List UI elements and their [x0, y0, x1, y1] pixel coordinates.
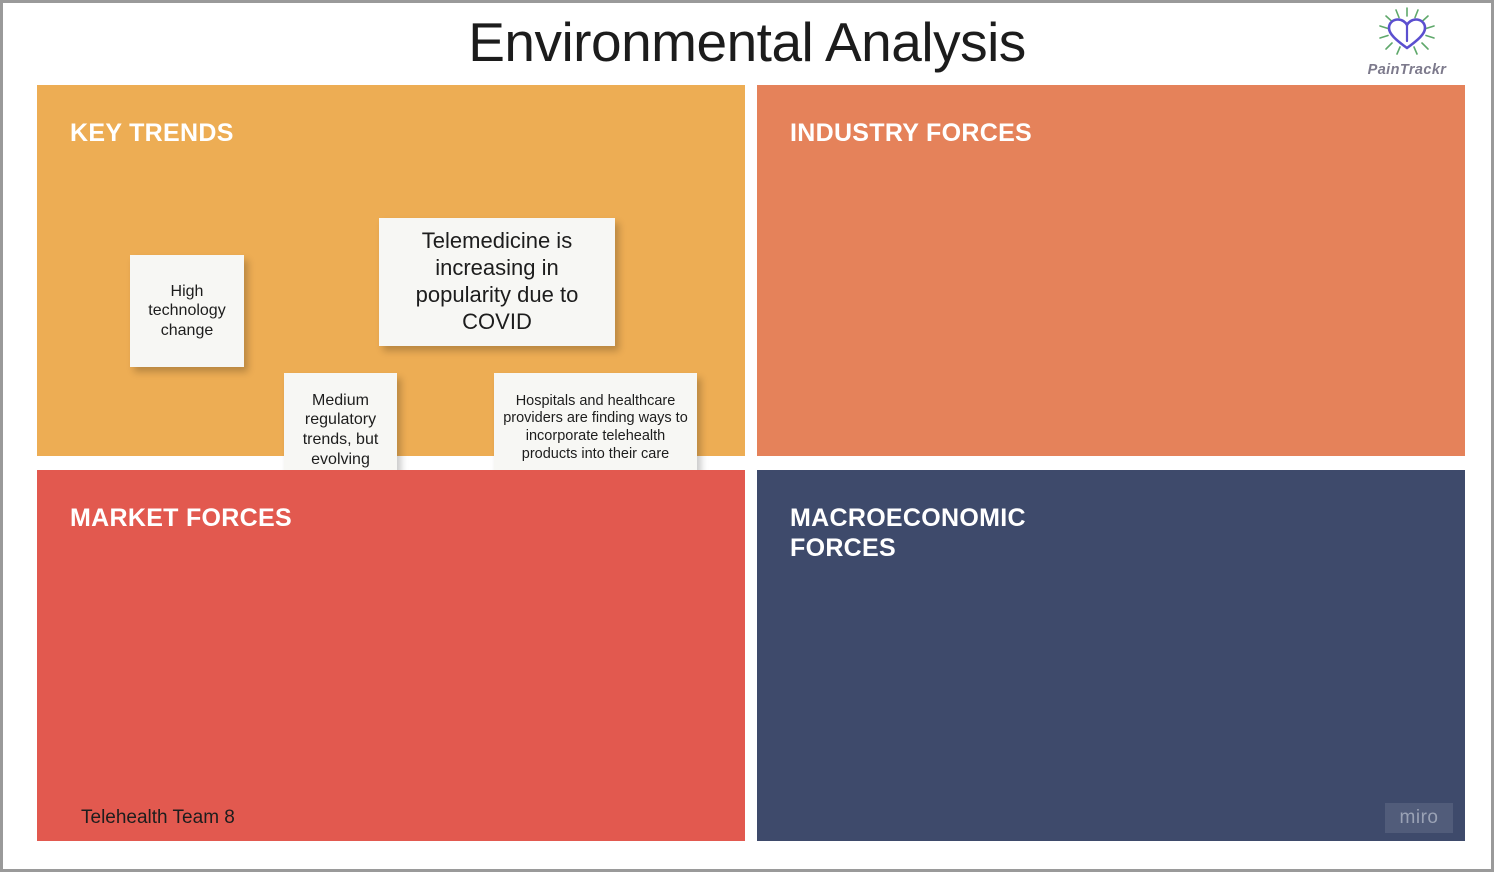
panel-market-forces: MARKET FORCES Market Segments Medical De… — [37, 470, 745, 841]
brand-logo: PainTrackr — [1351, 7, 1463, 79]
environmental-analysis-board: Environmental Analysis — [0, 0, 1494, 872]
sticky-note-telemedicine-covid[interactable]: Telemedicine is increasing in popularity… — [379, 218, 615, 346]
sticky-note-hospitals-telehealth[interactable]: Hospitals and healthcare providers are f… — [494, 373, 697, 483]
panel-key-trends: KEY TRENDS High technology change Teleme… — [37, 85, 745, 456]
miro-watermark: miro — [1385, 803, 1453, 833]
heart-shine-icon — [1370, 7, 1444, 57]
page-title: Environmental Analysis — [3, 11, 1491, 73]
industry-forces-heading: INDUSTRY FORCES — [790, 118, 1032, 148]
panel-industry-forces: INDUSTRY FORCES Suppliers Camera and Fil… — [757, 85, 1465, 456]
sticky-note-high-technology-change[interactable]: High technology change — [130, 255, 244, 367]
macroeconomic-forces-heading: MACROECONOMIC FORCES — [790, 503, 1090, 563]
panel-macroeconomic-forces: MACROECONOMIC FORCES More individuals ar… — [757, 470, 1465, 841]
key-trends-heading: KEY TRENDS — [70, 118, 234, 148]
brand-name: PainTrackr — [1351, 62, 1463, 78]
team-footer-label: Telehealth Team 8 — [81, 807, 235, 829]
market-forces-heading: MARKET FORCES — [70, 503, 292, 533]
board-header: Environmental Analysis — [3, 3, 1491, 85]
